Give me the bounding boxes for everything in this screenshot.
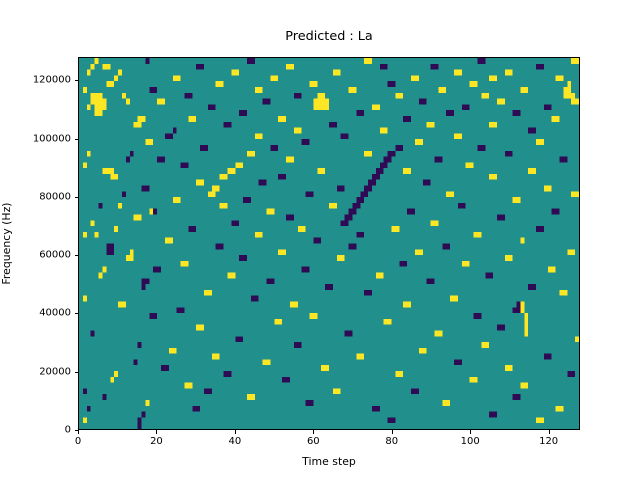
y-tick-label: 20000 — [39, 366, 71, 377]
x-tick-label: 0 — [75, 436, 81, 447]
x-tick-label: 40 — [229, 436, 242, 447]
heatmap-plot-area[interactable] — [78, 57, 580, 430]
x-tick-label: 60 — [307, 436, 320, 447]
y-tick-label: 80000 — [39, 191, 71, 202]
x-tick-label: 100 — [461, 436, 480, 447]
y-tick-label: 120000 — [33, 75, 71, 86]
x-tick-label: 20 — [150, 436, 163, 447]
y-tick-mark — [75, 197, 79, 198]
x-tick-mark — [313, 430, 314, 434]
y-axis-label: Frequency (Hz) — [0, 57, 14, 430]
y-tick-mark — [75, 255, 79, 256]
x-tick-label: 80 — [385, 436, 398, 447]
x-tick-mark — [235, 430, 236, 434]
y-tick-mark — [75, 313, 79, 314]
x-tick-mark — [392, 430, 393, 434]
heatmap-canvas — [79, 58, 579, 429]
y-tick-label: 40000 — [39, 308, 71, 319]
y-tick-label: 100000 — [33, 133, 71, 144]
x-tick-mark — [78, 430, 79, 434]
y-tick-mark — [75, 139, 79, 140]
x-tick-mark — [156, 430, 157, 434]
y-tick-mark — [75, 372, 79, 373]
y-tick-label: 0 — [65, 425, 71, 436]
y-tick-mark — [75, 80, 79, 81]
y-tick-label: 60000 — [39, 250, 71, 261]
page-title: Predicted : La — [78, 29, 580, 44]
matplotlib-figure: Predicted : La 020406080100120 020000400… — [0, 0, 640, 480]
x-tick-label: 120 — [539, 436, 558, 447]
x-tick-mark — [549, 430, 550, 434]
x-axis-label: Time step — [78, 455, 580, 468]
y-tick-mark — [75, 430, 79, 431]
x-tick-mark — [470, 430, 471, 434]
